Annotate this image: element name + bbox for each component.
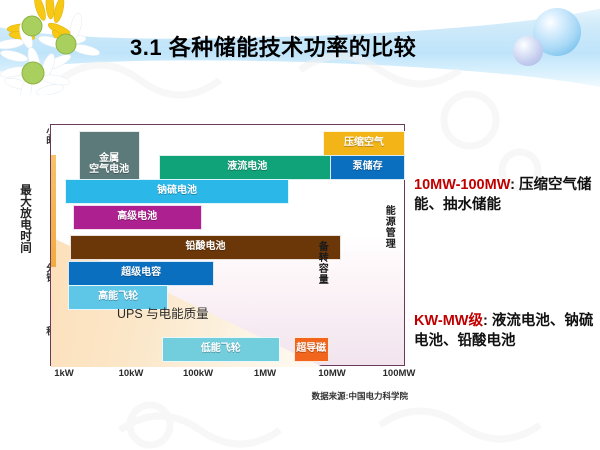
bar-6: 铅酸电池 <box>70 235 340 260</box>
bar-3: 泵储存 <box>330 155 405 180</box>
note-kw-mw: KW-MW级: 液流电池、钠硫电池、铅酸电池 <box>414 312 600 351</box>
note-bot-sep: : <box>483 313 492 329</box>
energy-management-label: 能源管理 <box>383 205 394 249</box>
x-tick-1mw: 1MW <box>254 368 276 379</box>
slide-canvas: 3.1 各种储能技术功率的比较 最大放电时间 小时 分钟 秒 金属空气电池压缩空… <box>0 0 600 450</box>
bar-5: 高级电池 <box>73 205 202 230</box>
x-tick-100mw: 100MW <box>383 368 416 379</box>
plot-area: 金属空气电池压缩空气液流电池泵储存钠硫电池高级电池铅酸电池超级电容高能飞轮低能飞… <box>50 124 405 366</box>
reserve-capacity-label: 备转容量 <box>316 241 327 285</box>
x-tick-100kw: 100kW <box>183 368 213 379</box>
x-tick-1kw: 1kW <box>54 368 74 379</box>
bar-label: 超导磁 <box>296 344 326 355</box>
bar-label: 钠硫电池 <box>157 186 197 197</box>
bar-label: 液流电池 <box>227 162 267 173</box>
orange-left-spine <box>51 155 56 267</box>
bar-label: 泵储存 <box>353 162 383 173</box>
bar-label: 铅酸电池 <box>185 242 225 253</box>
ups-region-label: UPS 与电能质量 <box>117 303 209 322</box>
bar-2: 液流电池 <box>159 155 336 180</box>
storage-technology-chart: 最大放电时间 小时 分钟 秒 金属空气电池压缩空气液流电池泵储存钠硫电池高级电池… <box>12 122 412 407</box>
note-10mw-100mw: 10MW-100MW: 压缩空气储能、抽水储能 <box>414 176 600 215</box>
bar-7: 超级电容 <box>68 261 215 286</box>
data-source-note: 数据来源:中国电力科学院 <box>312 390 408 402</box>
page-title: 3.1 各种储能技术功率的比较 <box>130 30 416 62</box>
bar-1: 压缩空气 <box>323 131 406 156</box>
bar-10: 超导磁 <box>294 337 329 362</box>
note-top-sep: : <box>510 177 519 193</box>
bar-label: 压缩空气 <box>344 138 384 149</box>
bar-label: 超级电容 <box>121 268 161 279</box>
bar-label: 低能飞轮 <box>201 344 241 355</box>
x-tick-10mw: 10MW <box>318 368 345 379</box>
note-top-range: 10MW-100MW <box>414 177 510 193</box>
note-bot-range: KW-MW级 <box>414 313 483 329</box>
daisy-flowers-decoration <box>0 0 115 95</box>
bar-label: 高级电池 <box>117 212 157 223</box>
x-axis: 1kW10kW100kW1MW10MW100MW <box>50 368 408 384</box>
bar-9: 低能飞轮 <box>162 337 280 362</box>
blue-bubble-small-icon <box>513 36 543 66</box>
bar-label: 高能飞轮 <box>98 292 138 303</box>
bar-label: 空气电池 <box>89 165 129 176</box>
x-tick-10kw: 10kW <box>119 368 144 379</box>
y-axis-title: 最大放电时间 <box>14 184 30 253</box>
bar-4: 钠硫电池 <box>65 179 289 204</box>
